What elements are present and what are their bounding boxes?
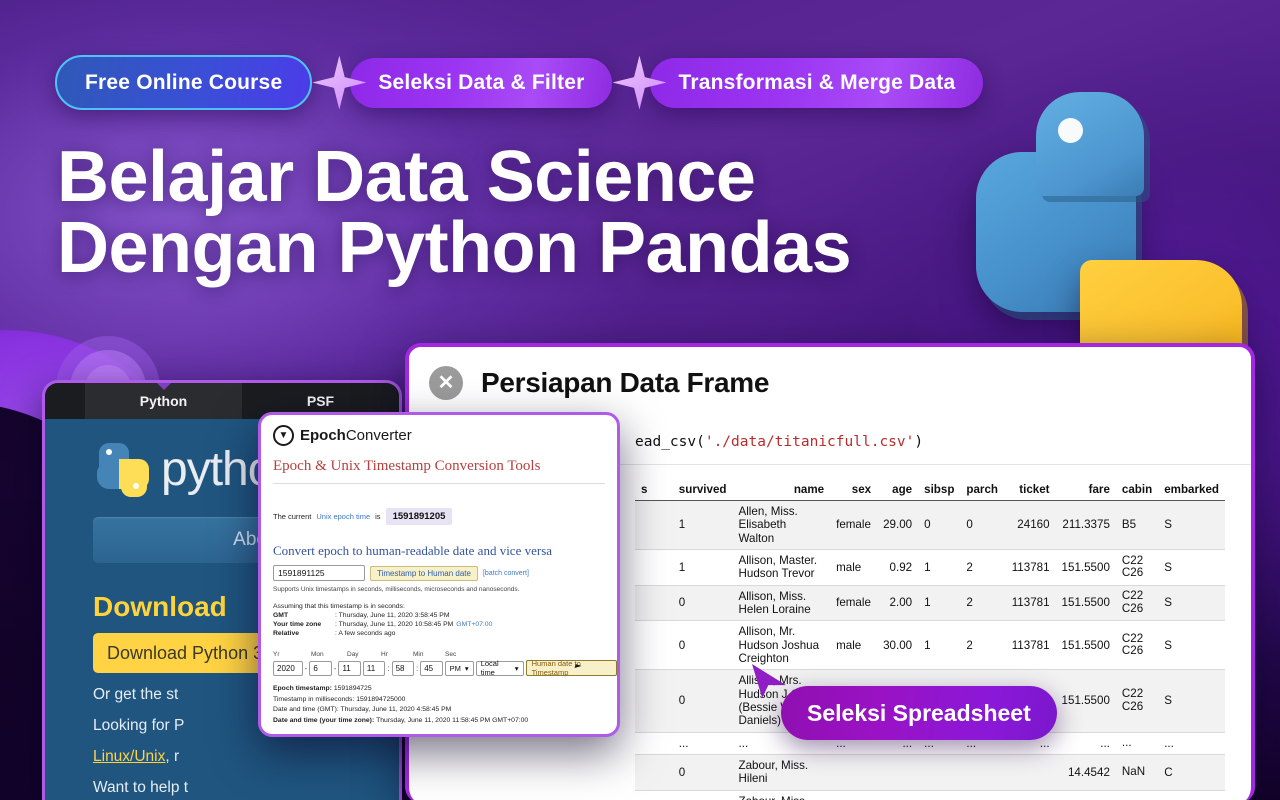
cell-cabin: NaN	[1116, 790, 1158, 800]
cell-fare: 151.5500	[1056, 585, 1116, 621]
cell-embarked: C	[1158, 754, 1225, 790]
result-line: Epoch timestamp: 1591894725	[273, 684, 617, 695]
cell-survived: 0	[673, 621, 733, 670]
epoch-results: Epoch timestamp: 1591894725Timestamp in …	[273, 684, 617, 726]
cell-fare: ...	[1056, 732, 1116, 754]
cell-index	[635, 501, 673, 550]
epoch-heading: Epoch & Unix Timestamp Conversion Tools	[273, 458, 605, 484]
epoch-brand-bold: Epoch	[300, 427, 346, 444]
table-row: 0Allison, Miss. Helen Lorainefemale2.001…	[635, 585, 1225, 621]
th-index: s	[635, 479, 673, 501]
result-label: Epoch timestamp:	[273, 685, 334, 692]
cell-ticket: 113781	[1004, 549, 1056, 585]
link-batch-convert[interactable]: [batch convert]	[483, 570, 529, 577]
day-input[interactable]: 11	[338, 661, 360, 676]
cell-parch: 2	[960, 585, 1004, 621]
cell-name: Allison, Master. Hudson Trevor	[733, 549, 831, 585]
cell-parch: 2	[960, 621, 1004, 670]
cell-sex	[830, 754, 877, 790]
chevron-down-icon: ▾	[465, 664, 469, 673]
cell-cabin: C22C26	[1116, 549, 1158, 585]
cell-sex: male	[830, 549, 877, 585]
cell-cabin: B5	[1116, 501, 1158, 550]
cell-ticket: 113781	[1004, 621, 1056, 670]
cell-cabin: NaN	[1116, 754, 1158, 790]
close-icon[interactable]: ✕	[429, 366, 463, 400]
cell-fare: 211.3375	[1056, 501, 1116, 550]
month-input[interactable]: 6	[309, 661, 331, 676]
headline-line-1: Belajar Data Science	[57, 142, 851, 213]
cell-parch	[960, 754, 1004, 790]
cell-name: Allison, Miss. Helen Loraine	[733, 585, 831, 621]
relative-row: Relative : A few seconds ago	[273, 630, 617, 637]
current-epoch-row: The current Unix epoch time is 159189120…	[273, 508, 617, 525]
link-linux-unix[interactable]: Linux/Unix	[93, 748, 165, 765]
badge-transformasi-merge-data[interactable]: Transformasi & Merge Data	[650, 58, 983, 108]
cell-cabin: C22C26	[1116, 585, 1158, 621]
code-prefix: ead_csv(	[635, 434, 705, 450]
th-fare: fare	[1056, 479, 1116, 501]
result-line: Date and time (GMT): Thursday, June 11, …	[273, 705, 617, 716]
epoch-brand-text: EpochConverter	[300, 427, 412, 444]
cell-parch: 0	[960, 501, 1004, 550]
minute-input[interactable]: 58	[392, 661, 414, 676]
python-logo-blue-head	[1036, 92, 1144, 196]
table-row: 0Allison, Mr. Hudson Joshua Creightonmal…	[635, 621, 1225, 670]
cell-cabin: ...	[1116, 732, 1158, 754]
time-separator: :	[416, 664, 418, 673]
cell-sibsp: 1	[918, 549, 960, 585]
time-separator: :	[387, 664, 389, 673]
th-cabin: cabin	[1116, 479, 1158, 501]
dataframe-body: 1Allen, Miss. Elisabeth Waltonfemale29.0…	[635, 501, 1225, 800]
th-sibsp: sibsp	[918, 479, 960, 501]
table-row: 1Allison, Master. Hudson Trevormale0.921…	[635, 549, 1225, 585]
cell-sibsp: 1	[918, 585, 960, 621]
cell-age	[877, 790, 918, 800]
cell-fare: 14.4542	[1056, 754, 1116, 790]
cell-ticket: 24160	[1004, 501, 1056, 550]
badge-seleksi-data-filter[interactable]: Seleksi Data & Filter	[350, 58, 612, 108]
cell-sex: female	[830, 585, 877, 621]
assuming-note: Assuming that this timestamp is in secon…	[273, 603, 617, 610]
cell-sex: male	[830, 621, 877, 670]
cell-age: 29.00	[877, 501, 918, 550]
notebook-header: ✕ Persiapan Data Frame	[409, 347, 1251, 419]
cell-cabin: C22C26	[1116, 621, 1158, 670]
result-value: Thursday, June 11, 2020 11:58:45 PM GMT+…	[376, 717, 528, 724]
timezone-value: : Thursday, June 11, 2020 10:58:45 PM	[335, 621, 453, 628]
code-path-string: './data/titanicfull.csv'	[705, 434, 915, 450]
badge-group-transformasi: Transformasi & Merge Data	[640, 58, 983, 108]
cell-ticket	[1004, 754, 1056, 790]
cell-survived: 0	[673, 790, 733, 800]
label-yr: Yr	[273, 651, 311, 658]
tab-python[interactable]: Python	[85, 383, 242, 419]
cell-fare: 14.4542	[1056, 790, 1116, 800]
python-line-3: Linux/Unix, r	[93, 748, 399, 766]
cell-sibsp	[918, 754, 960, 790]
label-min: Min	[413, 651, 445, 658]
timezone-select-value: Local time	[481, 659, 511, 677]
result-label: Timestamp in milliseconds:	[273, 696, 356, 703]
python-logo-icon	[95, 441, 151, 497]
tab-spacer-left	[45, 383, 85, 419]
relative-label: Relative	[273, 630, 335, 637]
badge-free-online-course[interactable]: Free Online Course	[55, 55, 312, 110]
clock-icon: ▼	[273, 425, 294, 446]
timestamp-to-human-button[interactable]: Timestamp to Human date	[370, 566, 478, 581]
cell-embarked: S	[1158, 585, 1225, 621]
table-row: 0Zabour, Miss. Hileni14.4542NaNC	[635, 754, 1225, 790]
cell-embarked: ...	[1158, 732, 1225, 754]
label-hr: Hr	[381, 651, 413, 658]
label-day: Day	[347, 651, 381, 658]
ampm-value: PM	[450, 664, 461, 673]
cell-index	[635, 754, 673, 790]
cell-age	[877, 754, 918, 790]
cell-name: Zabour, Miss. Hileni	[733, 754, 831, 790]
table-row: 1Allen, Miss. Elisabeth Waltonfemale29.0…	[635, 501, 1225, 550]
cell-embarked: S	[1158, 670, 1225, 732]
human-date-to-timestamp-button[interactable]: Human date to Timestamp	[526, 660, 617, 676]
second-input[interactable]: 45	[420, 661, 442, 676]
label-mon: Mon	[311, 651, 347, 658]
result-value: 1591894725	[334, 685, 372, 692]
cell-survived: 0	[673, 585, 733, 621]
current-label-pre: The current	[273, 512, 311, 521]
cell-index	[635, 585, 673, 621]
epoch-brand: ▼ EpochConverter	[261, 415, 617, 446]
cell-survived: ...	[673, 732, 733, 754]
cell-index	[635, 790, 673, 800]
timezone-label: Your time zone	[273, 621, 335, 628]
label-sec: Sec	[445, 651, 477, 658]
page-title: Belajar Data Science Dengan Python Panda…	[57, 142, 851, 285]
timezone-select[interactable]: Local time▾	[476, 661, 524, 676]
th-parch: parch	[960, 479, 1004, 501]
ampm-select[interactable]: PM▾	[445, 661, 474, 676]
th-survived: survived	[673, 479, 733, 501]
cell-sex: female	[830, 501, 877, 550]
gmt-row: GMT : Thursday, June 11, 2020 3:58:45 PM	[273, 612, 617, 619]
human-button-label: Human date to Timestamp	[532, 659, 611, 677]
cell-sibsp: 1	[918, 621, 960, 670]
epoch-converter-window: ▼ EpochConverter Epoch & Unix Timestamp …	[258, 412, 620, 737]
th-sex: sex	[830, 479, 877, 501]
timezone-row: Your time zone : Thursday, June 11, 2020…	[273, 621, 617, 628]
cell-age: 2.00	[877, 585, 918, 621]
cell-parch	[960, 790, 1004, 800]
gmt-label: GMT	[273, 612, 335, 619]
result-label: Date and time (your time zone):	[273, 717, 376, 724]
cell-name: Allison, Mr. Hudson Joshua Creighton	[733, 621, 831, 670]
th-ticket: ticket	[1004, 479, 1056, 501]
cell-sibsp: 0	[918, 501, 960, 550]
cell-survived: 1	[673, 549, 733, 585]
th-age: age	[877, 479, 918, 501]
result-value: 1591894725000	[356, 696, 405, 703]
badge-group-seleksi: Seleksi Data & Filter	[340, 58, 612, 108]
code-suffix: )	[914, 434, 923, 450]
cell-survived: 0	[673, 754, 733, 790]
cell-ticket	[1004, 790, 1056, 800]
year-input[interactable]: 2020	[273, 661, 303, 676]
cell-embarked: S	[1158, 621, 1225, 670]
cell-index	[635, 621, 673, 670]
cell-survived: 1	[673, 501, 733, 550]
python-line-4: Want to help t	[93, 779, 399, 797]
cell-name: Allen, Miss. Elisabeth Walton	[733, 501, 831, 550]
timezone-offset: GMT+07:00	[456, 621, 492, 628]
python-logo-blue-eye	[1058, 118, 1083, 143]
th-embarked: embarked	[1158, 479, 1225, 501]
th-name: name	[733, 479, 831, 501]
relative-value: : A few seconds ago	[335, 630, 395, 637]
annotation-seleksi-spreadsheet: Seleksi Spreadsheet	[781, 686, 1057, 740]
cell-age: 0.92	[877, 549, 918, 585]
cell-fare: 151.5500	[1056, 621, 1116, 670]
human-date-fields: Yr Mon Day Hr Min Sec 2020 - 6 - 11 11 :…	[273, 651, 617, 676]
cell-cabin: C22C26	[1116, 670, 1158, 732]
cell-embarked: S	[1158, 501, 1225, 550]
date-separator: -	[334, 664, 337, 673]
cell-sex	[830, 790, 877, 800]
cell-embarked: C	[1158, 790, 1225, 800]
convert-heading: Convert epoch to human-readable date and…	[273, 543, 617, 559]
convert-row: 1591891125 Timestamp to Human date [batc…	[273, 565, 617, 581]
date-separator: -	[305, 664, 308, 673]
result-line: Timestamp in milliseconds: 1591894725000	[273, 695, 617, 706]
badge-row: Free Online Course Seleksi Data & Filter…	[55, 55, 983, 110]
epoch-brand-rest: Converter	[346, 427, 412, 444]
table-row: 0Zabour, Miss. Thamine14.4542NaNC	[635, 790, 1225, 800]
cell-index	[635, 732, 673, 754]
gmt-value: : Thursday, June 11, 2020 3:58:45 PM	[335, 612, 450, 619]
chevron-down-icon: ▾	[515, 664, 519, 673]
cell-fare: 151.5500	[1056, 549, 1116, 585]
link-unix-epoch-time[interactable]: Unix epoch time	[316, 512, 370, 521]
supports-note: Supports Unix timestamps in seconds, mil…	[273, 586, 617, 593]
cell-age: 30.00	[877, 621, 918, 670]
cell-index	[635, 670, 673, 732]
cell-name: Zabour, Miss. Thamine	[733, 790, 831, 800]
cell-index	[635, 549, 673, 585]
result-line: Date and time (your time zone): Thursday…	[273, 716, 617, 727]
cell-survived: 0	[673, 670, 733, 732]
table-header-row: s survived name sex age sibsp parch tick…	[635, 479, 1225, 501]
notebook-title: Persiapan Data Frame	[481, 367, 769, 399]
current-epoch-value: 1591891205	[386, 508, 453, 525]
result-value: Thursday, June 11, 2020 4:58:45 PM	[340, 706, 451, 713]
headline-line-2: Dengan Python Pandas	[57, 213, 851, 284]
current-label-post: is	[375, 512, 380, 521]
cell-fare: 151.5500	[1056, 670, 1116, 732]
field-input-row: 2020 - 6 - 11 11 : 58 : 45 PM▾ Local tim…	[273, 660, 617, 676]
cell-embarked: S	[1158, 549, 1225, 585]
timestamp-input[interactable]: 1591891125	[273, 565, 365, 581]
dataframe-table: s survived name sex age sibsp parch tick…	[635, 479, 1225, 800]
cell-ticket: 113781	[1004, 585, 1056, 621]
cell-sibsp	[918, 790, 960, 800]
field-label-row: Yr Mon Day Hr Min Sec	[273, 651, 617, 658]
result-label: Date and time (GMT):	[273, 706, 340, 713]
assuming-text: Assuming that this timestamp is in secon…	[273, 603, 405, 610]
hour-input[interactable]: 11	[363, 661, 385, 676]
cell-parch: 2	[960, 549, 1004, 585]
